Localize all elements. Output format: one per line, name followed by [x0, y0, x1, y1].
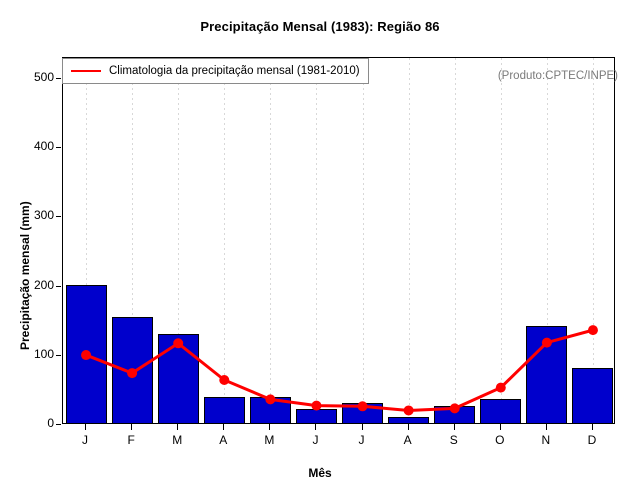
climatology-line-series	[63, 58, 614, 423]
x-tick-label-6: J	[342, 433, 382, 447]
x-tick	[408, 424, 409, 430]
climatology-marker-1	[127, 368, 137, 378]
x-tick-label-2: M	[157, 433, 197, 447]
precipitation-chart: Precipitação Mensal (1983): Região 86 01…	[0, 0, 640, 500]
page-title: Precipitação Mensal (1983): Região 86	[0, 19, 640, 34]
y-tick	[56, 286, 61, 287]
x-tick	[177, 424, 178, 430]
y-tick	[56, 216, 61, 217]
x-tick	[315, 424, 316, 430]
x-tick-label-8: S	[434, 433, 474, 447]
legend-label-climatology: Climatologia da precipitação mensal (198…	[109, 65, 360, 77]
y-axis-title: Precipitação mensal (mm)	[18, 201, 32, 350]
x-tick-label-3: A	[203, 433, 243, 447]
x-tick-label-9: O	[480, 433, 520, 447]
y-tick-label: 100	[10, 347, 54, 361]
x-tick-label-0: J	[65, 433, 105, 447]
x-tick	[500, 424, 501, 430]
x-tick	[362, 424, 363, 430]
climatology-marker-8	[450, 403, 460, 413]
plot-area	[62, 57, 615, 424]
x-tick	[592, 424, 593, 430]
x-tick	[223, 424, 224, 430]
legend-line-swatch	[71, 70, 101, 72]
plot-inner	[63, 58, 614, 423]
climatology-marker-5	[311, 401, 321, 411]
climatology-marker-7	[404, 405, 414, 415]
climatology-marker-11	[588, 325, 598, 335]
y-tick-label: 200	[10, 278, 54, 292]
x-tick	[269, 424, 270, 430]
y-tick	[56, 355, 61, 356]
y-tick	[56, 424, 61, 425]
climatology-marker-10	[542, 338, 552, 348]
x-tick-label-4: M	[249, 433, 289, 447]
y-tick	[56, 78, 61, 79]
climatology-marker-2	[173, 338, 183, 348]
climatology-marker-9	[496, 383, 506, 393]
x-axis-title: Mês	[0, 466, 640, 480]
climatology-line	[86, 330, 593, 410]
climatology-marker-4	[265, 394, 275, 404]
climatology-marker-0	[81, 350, 91, 360]
climatology-marker-3	[219, 375, 229, 385]
x-tick	[546, 424, 547, 430]
x-tick-label-10: N	[526, 433, 566, 447]
climatology-marker-6	[358, 401, 368, 411]
legend: Climatologia da precipitação mensal (198…	[62, 58, 369, 84]
x-tick	[454, 424, 455, 430]
x-tick-label-1: F	[111, 433, 151, 447]
producer-annotation: (Produto:CPTEC/INPE)	[498, 70, 618, 82]
x-tick-label-11: D	[572, 433, 612, 447]
y-tick-label: 300	[10, 208, 54, 222]
y-tick-label: 500	[10, 70, 54, 84]
x-tick-label-5: J	[295, 433, 335, 447]
x-tick-label-7: A	[388, 433, 428, 447]
y-tick-label: 400	[10, 139, 54, 153]
y-tick-label: 0	[10, 416, 54, 430]
y-tick	[56, 147, 61, 148]
x-tick	[85, 424, 86, 430]
x-tick	[131, 424, 132, 430]
